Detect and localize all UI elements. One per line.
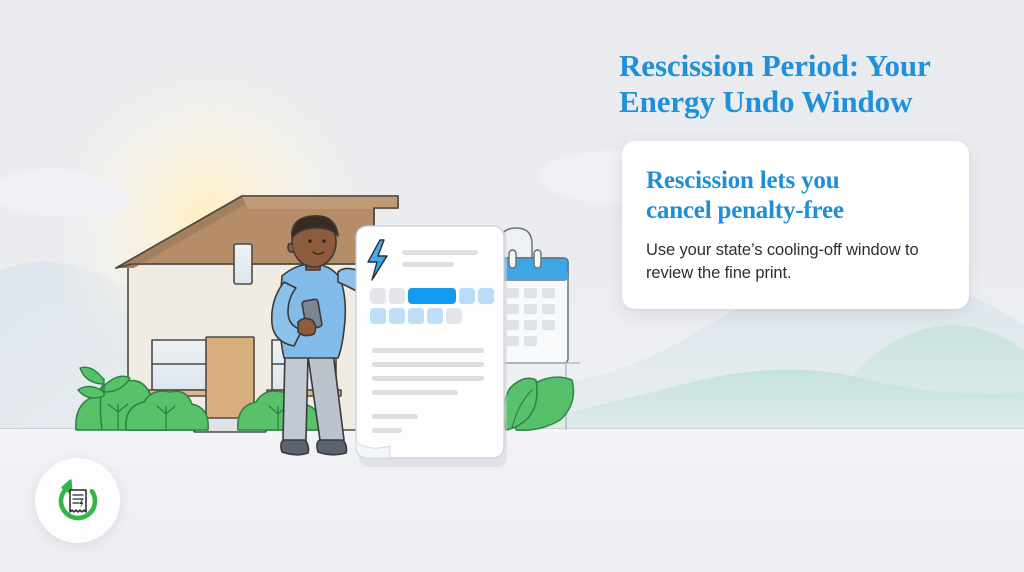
foliage-right xyxy=(504,377,574,430)
page-title-line2: Energy Undo Window xyxy=(619,84,1009,120)
info-card-title-line2: cancel penalty-free xyxy=(646,196,945,226)
info-card-title: Rescission lets you cancel penalty-free xyxy=(646,166,945,226)
energy-contract-document xyxy=(356,226,507,467)
undo-badge[interactable] xyxy=(35,458,120,543)
info-card-title-line1: Rescission lets you xyxy=(646,166,945,196)
page-title-line1: Rescission Period: Your xyxy=(619,48,1009,84)
info-card-body: Use your state’s cooling-off window to r… xyxy=(646,239,945,285)
info-card: Rescission lets you cancel penalty-free … xyxy=(622,141,969,309)
page-title: Rescission Period: Your Energy Undo Wind… xyxy=(619,48,1009,120)
illustration-banner: Rescission Period: Your Energy Undo Wind… xyxy=(0,0,1024,572)
undo-receipt-icon xyxy=(50,473,106,529)
